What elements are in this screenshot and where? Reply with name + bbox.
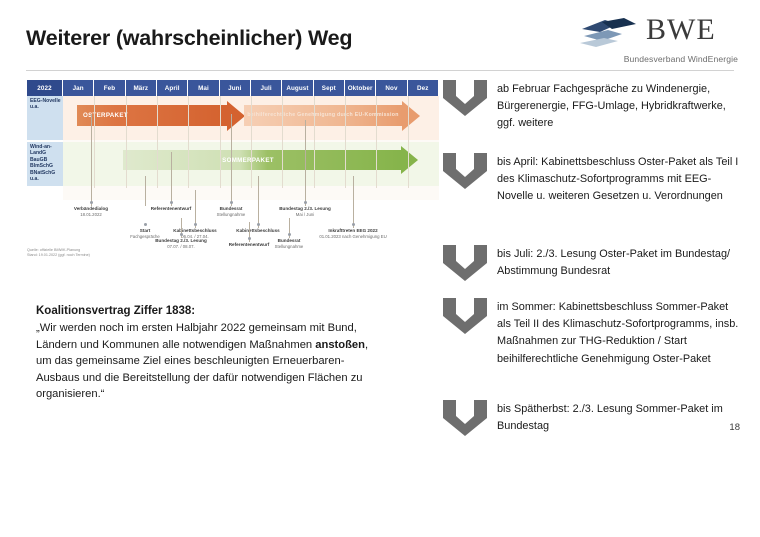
bwe-wing-logo-icon	[578, 16, 640, 50]
milestone-tick	[231, 114, 232, 206]
timeline-month-cell-sept: Sept	[314, 80, 345, 96]
koalitionsvertrag-heading: Koalitionsvertrag Ziffer 1838:	[36, 305, 436, 317]
bullet-text: im Sommer: Kabinettsbeschluss Sommer-Pak…	[497, 298, 743, 368]
page-title: Weiterer (wahrscheinlicher) Weg	[26, 26, 352, 51]
milestone-dot	[352, 223, 355, 226]
milestone-dot	[230, 201, 233, 204]
bullet-item: bis Juli: 2./3. Lesung Oster-Paket im Bu…	[443, 245, 743, 281]
milestone-label-date: Mai / Juni	[255, 212, 355, 218]
milestone-label: Inkrafttreten EEG 202201.01.2023 nach Ge…	[303, 228, 403, 239]
milestone-label-main: Inkrafttreten EEG 2022	[328, 228, 377, 233]
bullet-item: im Sommer: Kabinettsbeschluss Sommer-Pak…	[443, 298, 743, 368]
timeline-gridline	[282, 96, 283, 188]
timeline-gridline	[408, 96, 409, 188]
row-label-wind: Wind-an-LandG BauGB BImSchG BNatSchG u.a…	[27, 142, 63, 186]
bullet-text: bis Spätherbst: 2./3. Lesung Sommer-Pake…	[497, 400, 743, 435]
chart-source-note: Quelle: offizielle BMWK-Planung Stand: 1…	[27, 248, 90, 258]
timeline-gridline	[94, 96, 95, 188]
timeline-gridline	[376, 96, 377, 188]
chevron-down-icon	[443, 80, 487, 116]
milestone-label: BundesratStellungnahme	[239, 238, 339, 249]
chevron-down-icon	[443, 400, 487, 436]
milestone-label-date: 18.01.2022	[41, 212, 141, 218]
chevron-down-icon	[443, 298, 487, 334]
quote-emphasis: anstoßen	[315, 339, 365, 351]
timeline-month-cell-märz: März	[126, 80, 157, 96]
timeline-month-cell-feb: Feb	[94, 80, 125, 96]
timeline-gridline	[251, 96, 252, 188]
koalitionsvertrag-quote: „Wir werden noch im ersten Halbjahr 2022…	[36, 320, 436, 403]
milestone-dot	[304, 201, 307, 204]
bar-label-eu-genehmigung: beihilferechtliche Genehmigung durch EU-…	[244, 112, 402, 118]
milestone-label-main: Bundesrat	[220, 206, 243, 211]
timeline-gridline	[188, 96, 189, 188]
timeline-month-cell-mai: Mai	[188, 80, 219, 96]
timeline-grid: OSTERPAKET beihilferechtliche Genehmigun…	[63, 96, 439, 200]
timeline-gridline	[157, 96, 158, 188]
milestone-dot	[288, 233, 291, 236]
bar-sommerpaket: SOMMERPAKET	[123, 150, 418, 170]
bullet-text: bis April: Kabinettsbeschluss Oster-Pake…	[497, 153, 743, 206]
timeline-gridline	[314, 96, 315, 188]
timeline-month-header: 2022JanFebMärzAprilMaiJuniJuliAugustSept…	[27, 80, 439, 96]
milestone-tick	[145, 176, 146, 206]
milestone-label-main: Bundestag 2./3. Lesung	[279, 206, 331, 211]
timeline-month-cell-juli: Juli	[251, 80, 282, 96]
bwe-logo: BWE Bundesverband WindEnergie	[572, 14, 738, 70]
milestone-tick	[353, 176, 354, 228]
row-label-eeg: EEG-Novelle u.a.	[27, 96, 63, 140]
timeline-gridline	[126, 96, 127, 188]
milestone-dot	[194, 223, 197, 226]
quote-line-2b: ,	[365, 339, 368, 351]
milestone-dot	[144, 223, 147, 226]
bwe-wordmark: BWE	[646, 13, 716, 47]
timeline-gridline	[220, 96, 221, 188]
bullet-item: bis April: Kabinettsbeschluss Oster-Pake…	[443, 153, 743, 206]
milestone-dot	[170, 201, 173, 204]
timeline-month-cell-jan: Jan	[63, 80, 94, 96]
quote-line-1: „Wir werden noch im ersten Halbjahr 2022…	[36, 322, 357, 334]
milestone-tick	[258, 176, 259, 228]
chevron-down-icon	[443, 245, 487, 281]
milestone-tick	[305, 120, 306, 206]
milestone-label-date: 01.01.2023 nach Genehmigung EU	[303, 234, 403, 240]
koalitionsvertrag-block: Koalitionsvertrag Ziffer 1838: „Wir werd…	[36, 305, 436, 403]
timeline-month-cell-oktober: Oktober	[345, 80, 376, 96]
chevron-down-icon	[443, 153, 487, 189]
timeline-chart: 2022JanFebMärzAprilMaiJuniJuliAugustSept…	[27, 80, 439, 200]
milestone-label-date: Stellungnahme	[239, 244, 339, 250]
quote-line-4: Ausbaus und die Bereitstellung der dafür…	[36, 372, 363, 384]
quote-line-5: organisieren.“	[36, 388, 104, 400]
bullet-text: ab Februar Fachgespräche zu Windenergie,…	[497, 80, 743, 133]
quote-line-3: um das gemeinsame Ziel eines beschleunig…	[36, 355, 344, 367]
milestone-label-main: Kabinettsbeschluss	[236, 228, 279, 233]
milestone-label: Kabinettsbeschluss	[208, 228, 308, 234]
milestone-tick	[171, 152, 172, 206]
bwe-subtitle: Bundesverband WindEnergie	[578, 54, 738, 64]
timeline-month-cell-dez: Dez	[408, 80, 439, 96]
page-number: 18	[729, 422, 740, 433]
milestone-label-main: Bundesrat	[278, 238, 301, 243]
quote-line-2a: Ländern und Kommunen alle notwendigen Ma…	[36, 339, 315, 351]
header-divider	[26, 70, 734, 71]
milestone-label: Bundestag 2./3. LesungMai / Juni	[255, 206, 355, 217]
timeline-month-cell-august: August	[282, 80, 313, 96]
timeline-year-cell: 2022	[27, 80, 63, 96]
timeline-body: EEG-Novelle u.a. Wind-an-LandG BauGB BIm…	[27, 96, 439, 200]
timeline-row-labels: EEG-Novelle u.a. Wind-an-LandG BauGB BIm…	[27, 96, 63, 200]
milestone-label-main: Verbändedialog	[74, 206, 108, 211]
milestone-dot	[257, 223, 260, 226]
bullet-text: bis Juli: 2./3. Lesung Oster-Paket im Bu…	[497, 245, 743, 280]
timeline-month-cell-april: April	[157, 80, 188, 96]
timeline-month-cell-juni: Juni	[220, 80, 251, 96]
bar-eu-genehmigung: beihilferechtliche Genehmigung durch EU-…	[244, 105, 420, 126]
timeline-month-cell-nov: Nov	[376, 80, 407, 96]
milestone-dot	[90, 201, 93, 204]
bar-label-sommerpaket: SOMMERPAKET	[123, 157, 401, 164]
milestone-dot	[180, 233, 183, 236]
bar-label-osterpaket: OSTERPAKET	[77, 112, 128, 119]
slide-canvas: Weiterer (wahrscheinlicher) Weg BWE Bund…	[0, 0, 760, 537]
milestone-tick	[91, 114, 92, 206]
timeline-gridline	[345, 96, 346, 188]
bullet-item: ab Februar Fachgespräche zu Windenergie,…	[443, 80, 743, 133]
bullet-item: bis Spätherbst: 2./3. Lesung Sommer-Pake…	[443, 400, 743, 436]
